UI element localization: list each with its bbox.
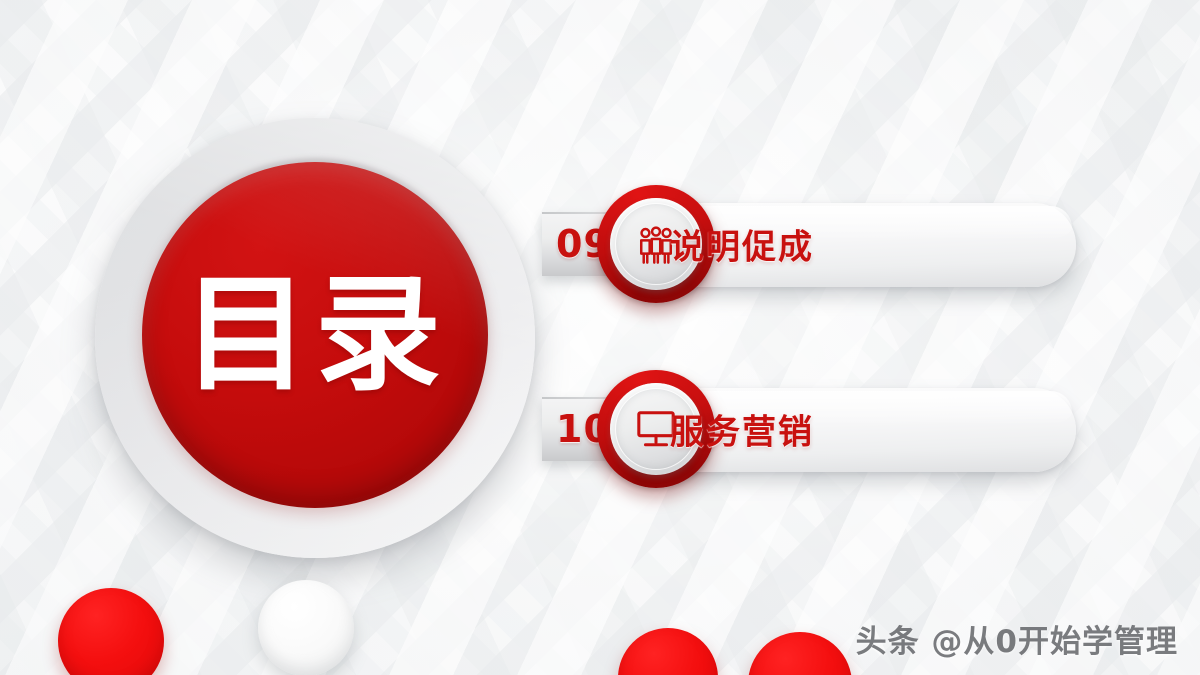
catalog-circle: 目录	[95, 118, 535, 558]
watermark-text: 头条 @从0开始学管理	[856, 616, 1178, 661]
agenda-item-09[interactable]: 09	[542, 185, 1076, 303]
agenda-item-label: 说明促成	[670, 220, 814, 269]
catalog-red-disc: 目录	[142, 162, 488, 508]
agenda-item-10[interactable]: 10 服务营销	[542, 370, 1076, 488]
agenda-item-label: 服务营销	[670, 405, 814, 454]
presentation-slide: 目录 09	[0, 0, 1200, 675]
deco-circle-white	[258, 580, 354, 675]
page-title: 目录	[183, 272, 447, 398]
